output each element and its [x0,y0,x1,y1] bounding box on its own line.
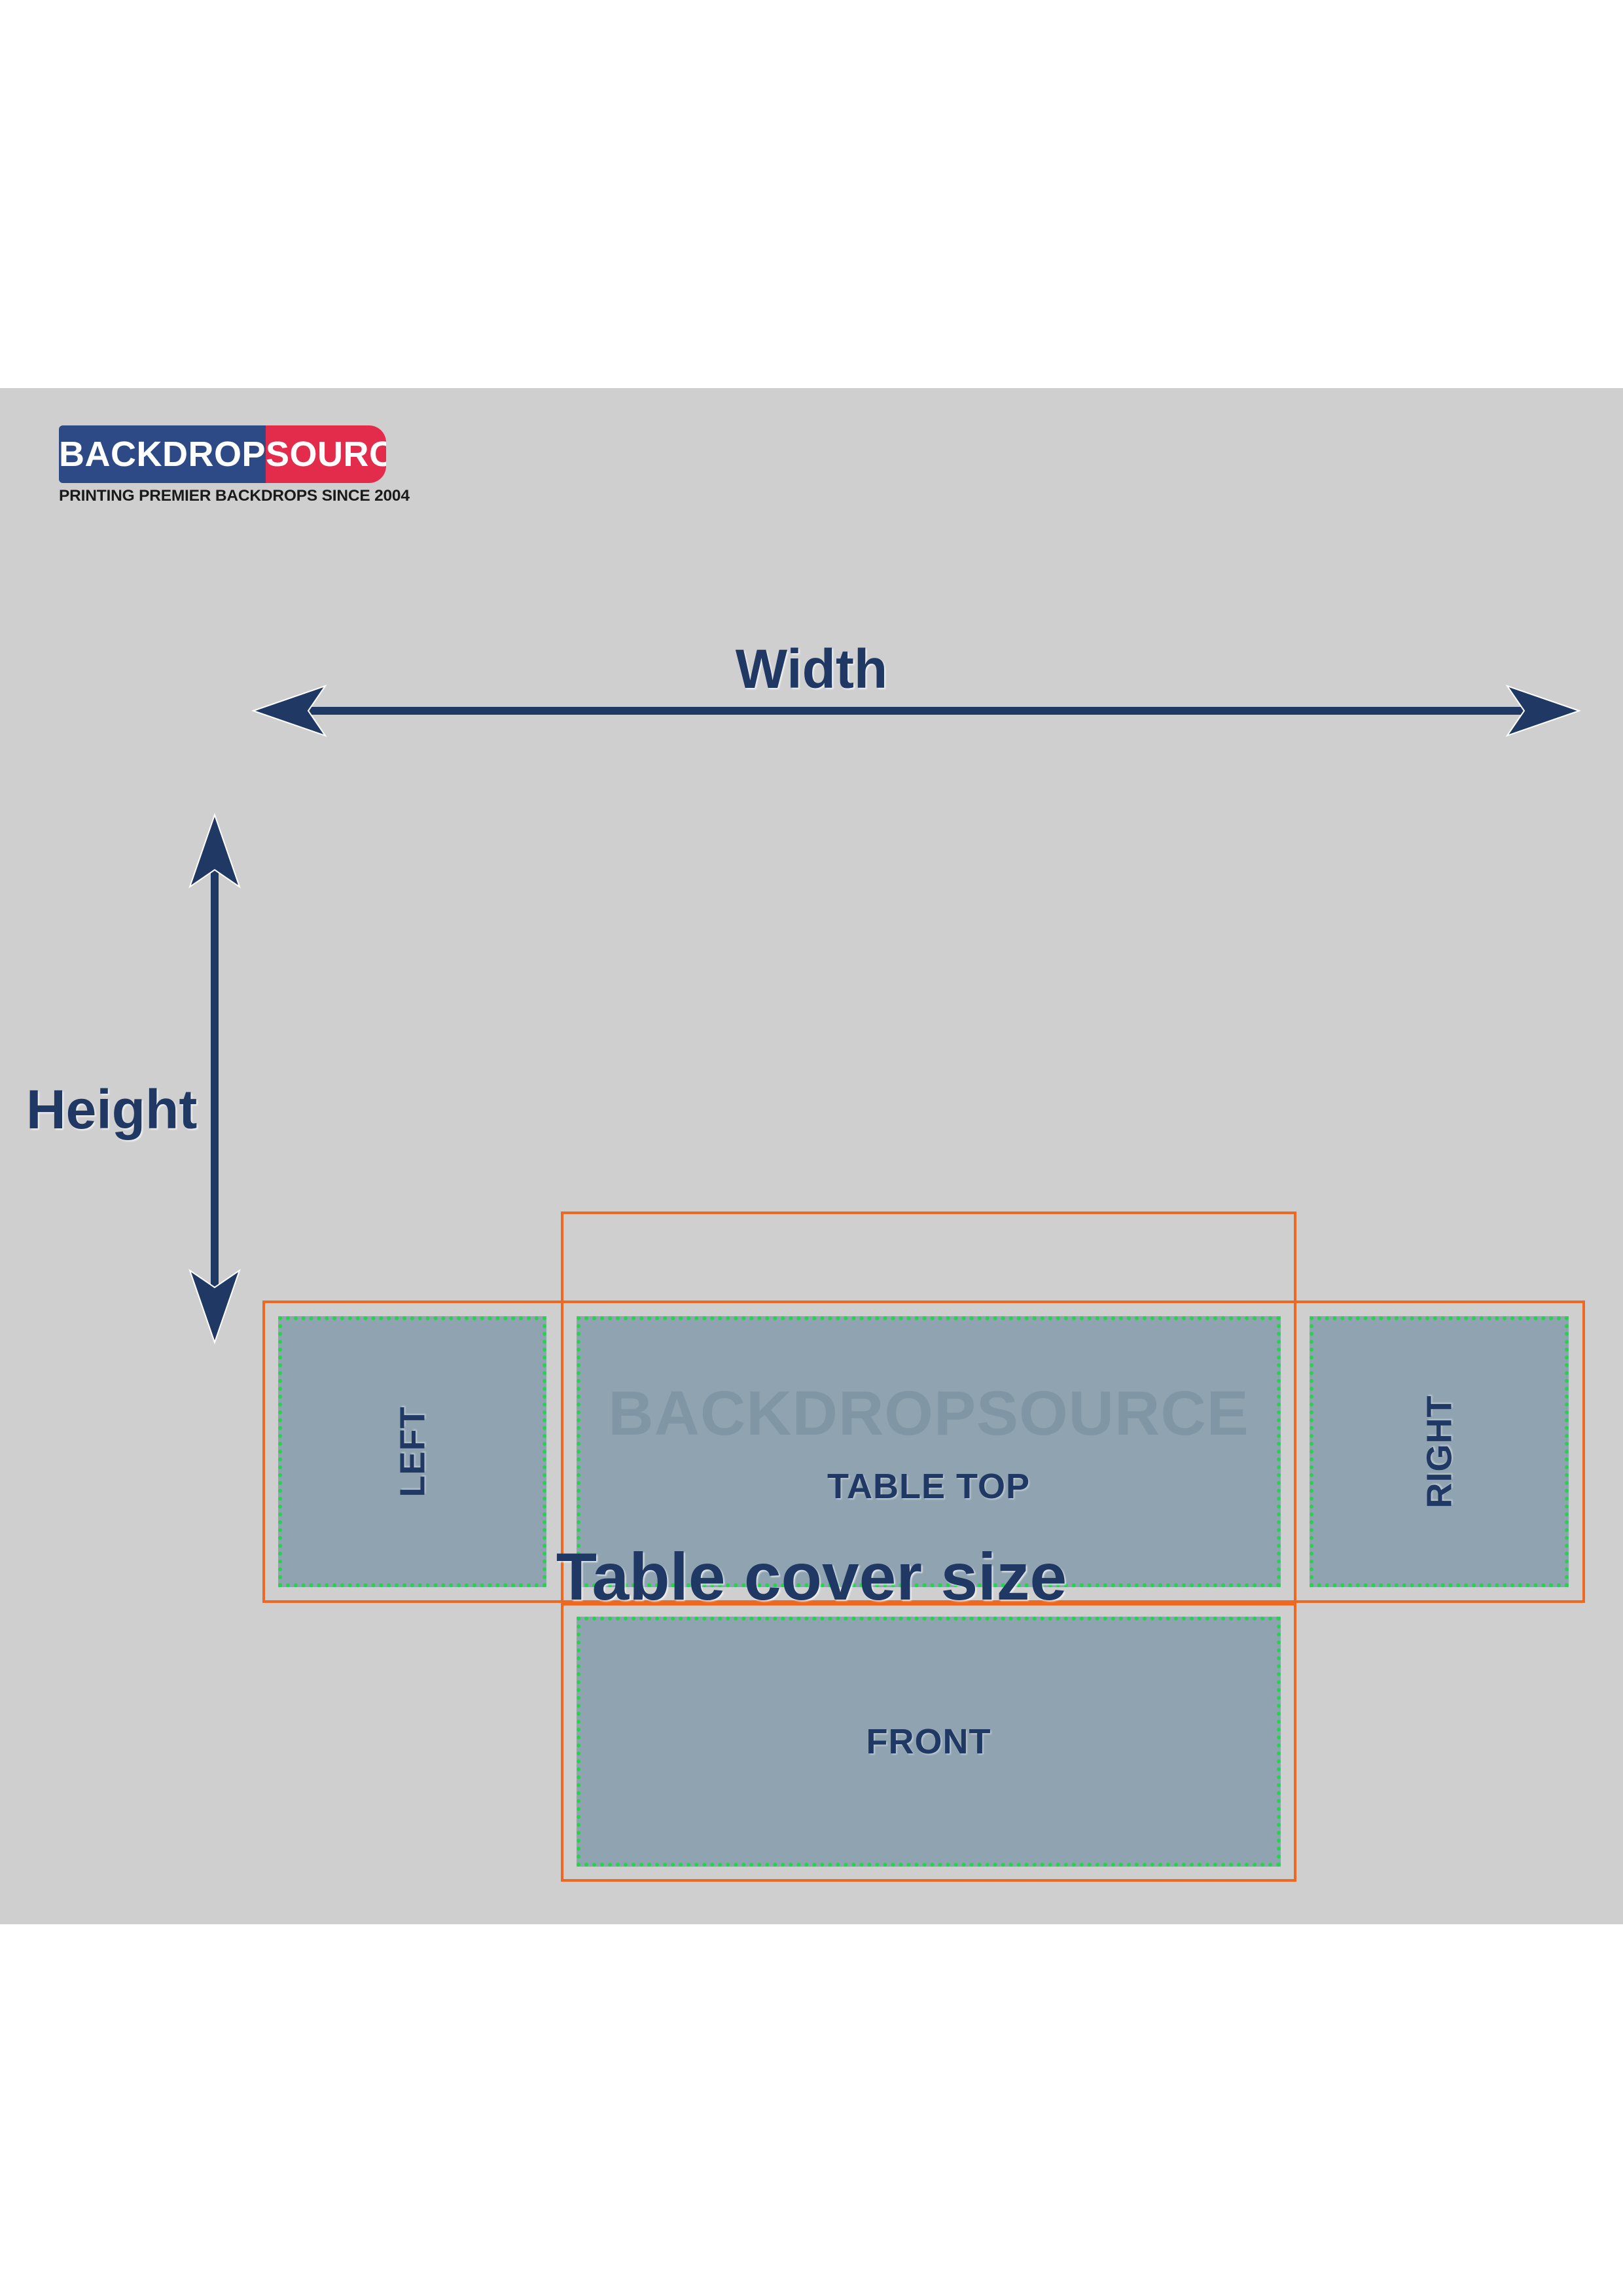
panel-left-label: LEFT [395,1407,430,1498]
panel-back-flap-outline [561,1211,1296,1303]
panel-front-label: FRONT [866,1724,991,1759]
panel-table-top-label: TABLE TOP [827,1469,1030,1504]
diagram-title: Table cover size [0,1543,1623,1610]
panel-right-label: RIGHT [1421,1395,1457,1509]
artboard-canvas: BACKDROP SOURCE PRINTING PREMIER BACKDRO… [0,388,1623,1924]
backdropsource-watermark: BACKDROPSOURCE [608,1382,1249,1445]
panel-front-fabric: FRONT [577,1617,1281,1867]
table-cover-diagram: LEFT BACKDROPSOURCE TABLE TOP RIGHT FRON… [0,388,1623,1924]
